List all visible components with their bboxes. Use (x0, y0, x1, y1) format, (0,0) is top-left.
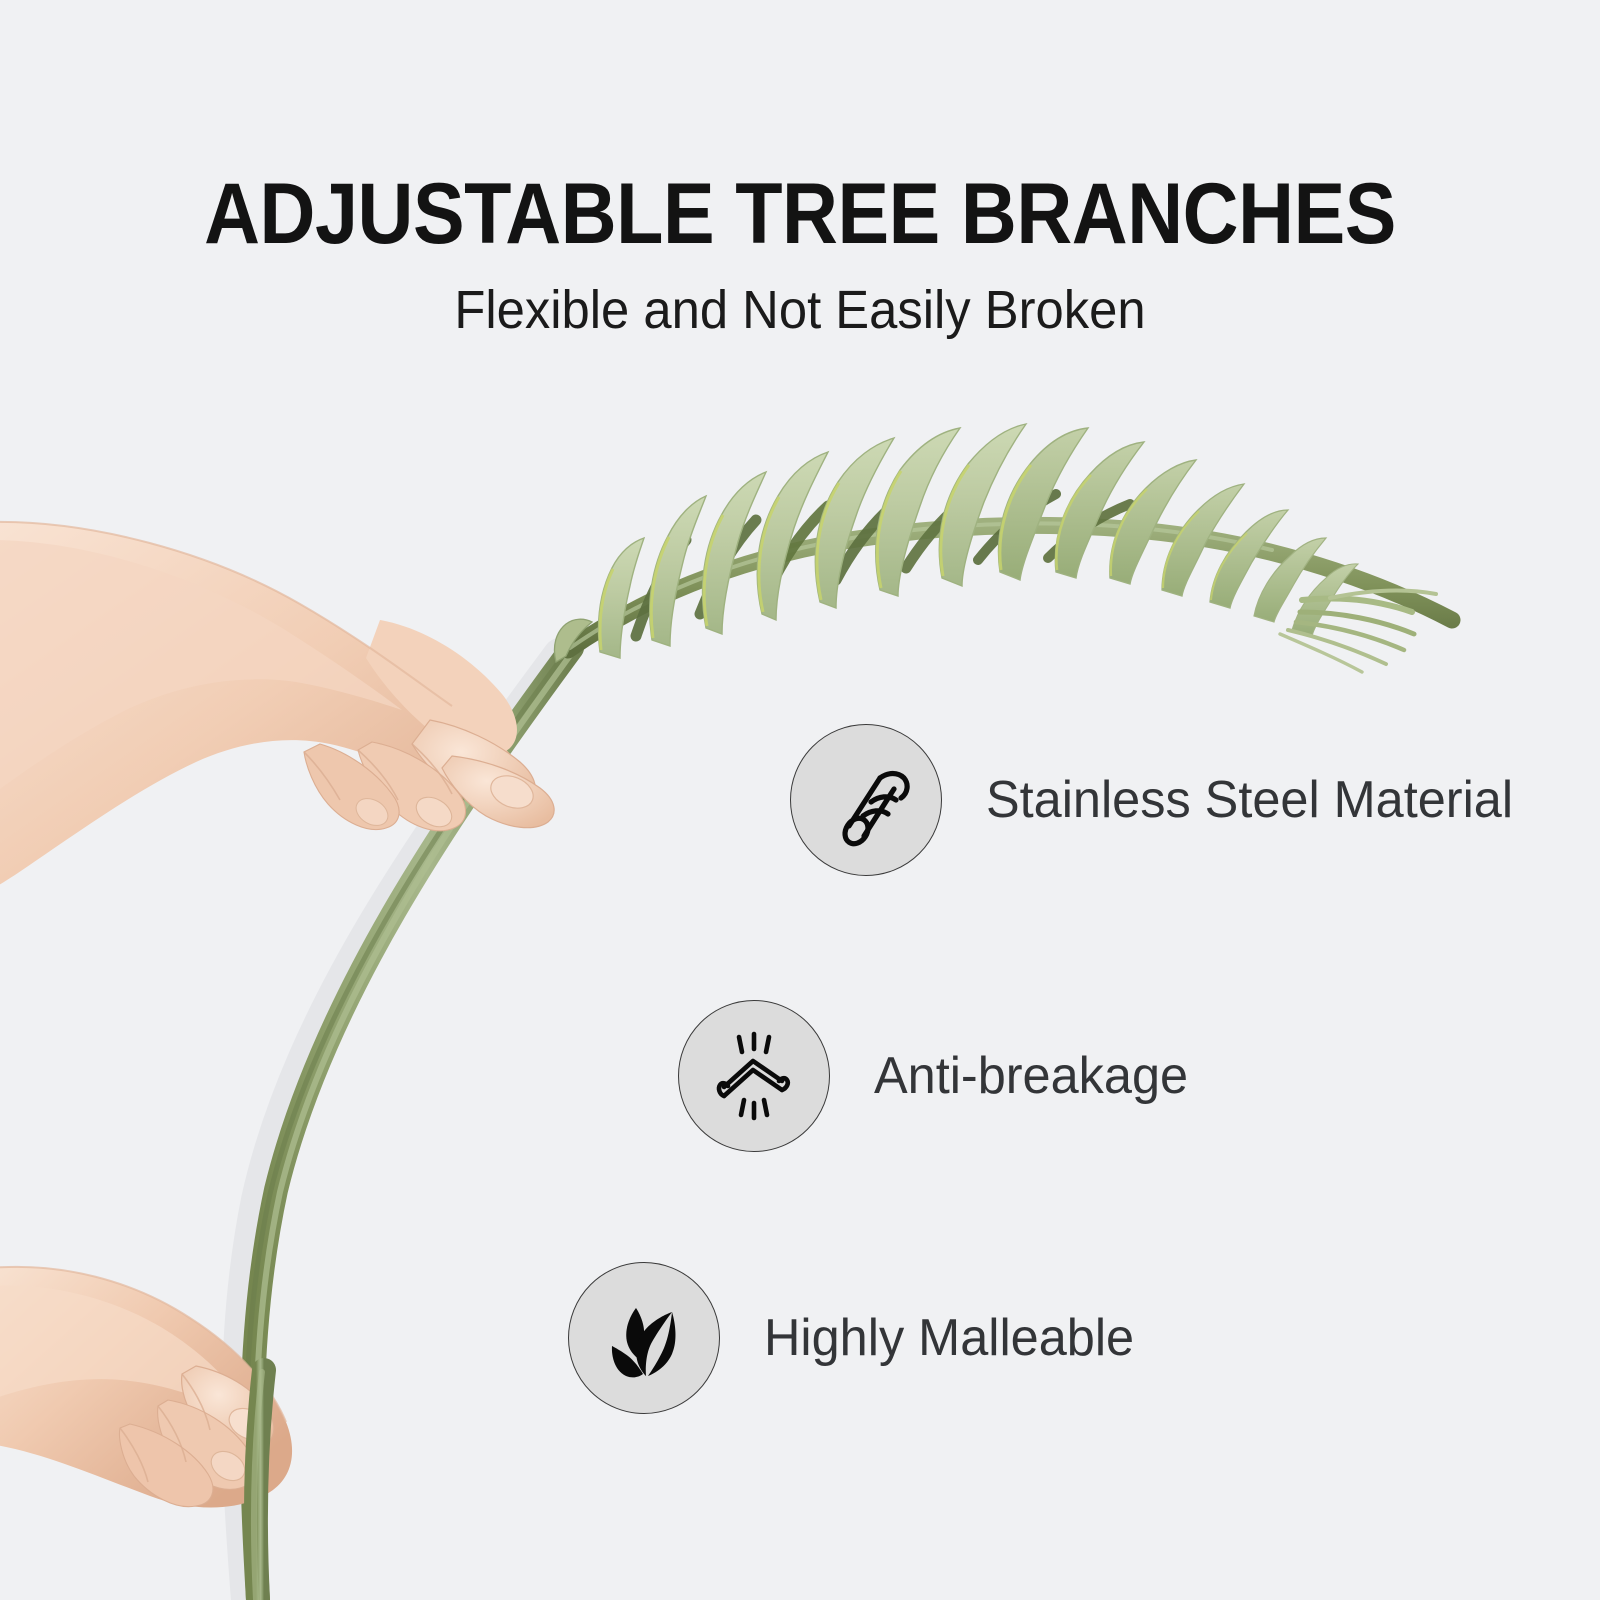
page-title: ADJUSTABLE TREE BRANCHES (80, 0, 1520, 256)
feature-label: Anti-breakage (874, 1050, 1188, 1102)
bent-rod-impact-icon (706, 1028, 802, 1124)
page-subtitle: Flexible and Not Easily Broken (48, 256, 1552, 339)
feature-label: Highly Malleable (764, 1312, 1134, 1364)
feature-item-highly-malleable: Highly Malleable (568, 1262, 1146, 1414)
feature-badge (790, 724, 942, 876)
leaves-icon (596, 1290, 692, 1386)
product-feature-graphic: ADJUSTABLE TREE BRANCHES Flexible and No… (0, 0, 1600, 1600)
feature-badge (678, 1000, 830, 1152)
feature-item-anti-breakage: Anti-breakage (678, 1000, 1198, 1152)
feature-badge (568, 1262, 720, 1414)
feature-label: Stainless Steel Material (986, 774, 1513, 826)
steel-coil-icon (818, 752, 914, 848)
header: ADJUSTABLE TREE BRANCHES Flexible and No… (0, 0, 1600, 339)
feature-item-stainless-steel-material: Stainless Steel Material (790, 724, 1529, 876)
